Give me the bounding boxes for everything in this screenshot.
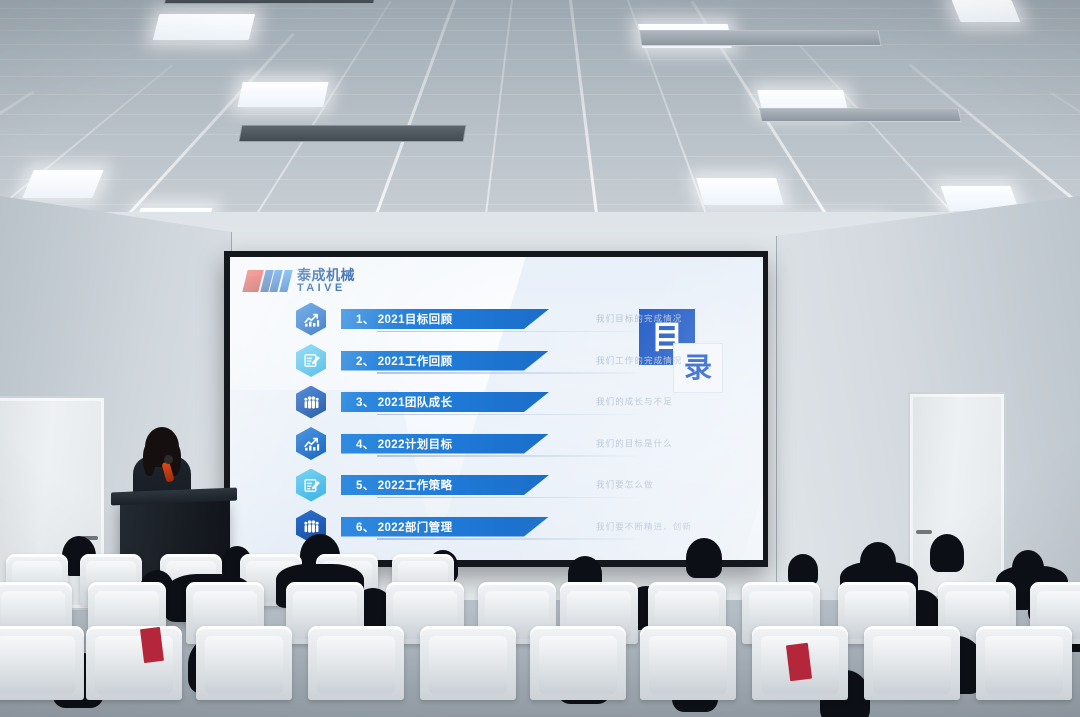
agenda-item-banner[interactable]: 6、2022部门管理 xyxy=(341,517,549,537)
ceiling-diffuser xyxy=(759,108,962,122)
people-group-icon xyxy=(296,386,326,419)
ceiling-light-panel xyxy=(153,14,255,40)
ceiling-light-panel xyxy=(952,0,1021,22)
audience-seat xyxy=(0,626,84,700)
ceiling-tile-line xyxy=(0,156,1080,157)
microphone-head-icon xyxy=(164,455,173,464)
agenda-item-banner[interactable]: 5、2022工作策略 xyxy=(341,475,549,495)
ceiling-tile-line xyxy=(0,134,1080,135)
agenda-item-number: 2、 xyxy=(356,353,375,369)
agenda-item-title: 2022工作策略 xyxy=(378,477,453,493)
agenda-item-title: 2021工作回顾 xyxy=(378,353,453,369)
clipboard-pencil-icon xyxy=(296,469,326,502)
company-logo: 泰成机械 TAIVE xyxy=(245,268,355,294)
agenda-item-banner[interactable]: 3、2021团队成长 xyxy=(341,392,549,412)
audience-member xyxy=(686,538,722,578)
audience-seat xyxy=(530,626,626,700)
ceiling-light-panel xyxy=(696,178,784,205)
agenda-item-1[interactable]: 1、2021目标回顾我们目标的完成情况 xyxy=(296,301,726,337)
handout-booklet xyxy=(786,643,812,681)
chart-growth-icon xyxy=(296,427,326,460)
ceiling-air-vent xyxy=(239,125,467,142)
ceiling-tile-line xyxy=(0,76,1080,77)
audience-seat xyxy=(308,626,404,700)
presentation-slide: 泰成机械 TAIVE 目 录 1、2021目标回顾我们目标的完成情况2、2021… xyxy=(230,257,763,560)
audience-seating xyxy=(0,540,1080,717)
agenda-item-underline xyxy=(377,331,635,332)
ceiling-diffuser xyxy=(639,30,882,46)
agenda-item-3[interactable]: 3、2021团队成长我们的成长与不足 xyxy=(296,384,726,420)
agenda-list: 1、2021目标回顾我们目标的完成情况2、2021工作回顾我们工作的完成情况3、… xyxy=(296,301,726,550)
door-handle-icon[interactable] xyxy=(916,530,932,534)
agenda-item-subtitle: 我们目标的完成情况 xyxy=(596,312,682,324)
audience-seat xyxy=(640,626,736,700)
agenda-item-title: 2022计划目标 xyxy=(378,436,453,452)
agenda-item-title: 2022部门管理 xyxy=(378,519,453,535)
agenda-item-subtitle: 我们工作的完成情况 xyxy=(596,354,682,366)
agenda-item-underline xyxy=(377,455,635,456)
agenda-item-underline xyxy=(377,414,635,415)
chart-growth-icon xyxy=(296,303,326,336)
ceiling-tile-line xyxy=(0,44,1080,45)
ceiling-light-panel xyxy=(22,170,103,198)
audience-seat xyxy=(976,626,1072,700)
agenda-item-number: 6、 xyxy=(356,519,375,535)
presenter-hair-left xyxy=(143,444,155,476)
logo-mark-icon xyxy=(242,270,295,292)
agenda-item-subtitle: 我们的目标是什么 xyxy=(596,437,673,449)
logo-english-name: TAIVE xyxy=(297,283,355,294)
agenda-item-title: 2021团队成长 xyxy=(378,394,453,410)
agenda-item-banner[interactable]: 4、2022计划目标 xyxy=(341,434,549,454)
audience-member xyxy=(930,534,964,572)
clipboard-pencil-icon xyxy=(296,344,326,377)
conference-room-scene: 泰成机械 TAIVE 目 录 1、2021目标回顾我们目标的完成情况2、2021… xyxy=(0,0,1080,717)
agenda-item-number: 3、 xyxy=(356,394,375,410)
ceiling-tile-line xyxy=(0,8,1080,9)
agenda-item-underline xyxy=(377,372,635,373)
ceiling-tile-line xyxy=(0,94,1080,95)
agenda-item-2[interactable]: 2、2021工作回顾我们工作的完成情况 xyxy=(296,343,726,379)
agenda-item-banner[interactable]: 1、2021目标回顾 xyxy=(341,309,549,329)
logo-chinese-name: 泰成机械 xyxy=(297,268,355,282)
ceiling-tile-line xyxy=(0,204,1080,205)
agenda-item-number: 1、 xyxy=(356,311,375,327)
agenda-item-subtitle: 我们要不断精进、创新 xyxy=(596,520,692,532)
agenda-item-subtitle: 我们要怎么做 xyxy=(596,478,654,490)
agenda-item-subtitle: 我们的成长与不足 xyxy=(596,395,673,407)
agenda-item-number: 4、 xyxy=(356,436,375,452)
audience-seat xyxy=(196,626,292,700)
agenda-item-number: 5、 xyxy=(356,477,375,493)
agenda-item-underline xyxy=(377,497,635,498)
ceiling-air-vent xyxy=(164,0,378,4)
agenda-item-5[interactable]: 5、2022工作策略我们要怎么做 xyxy=(296,467,726,503)
audience-seat xyxy=(86,626,182,700)
handout-booklet xyxy=(140,627,164,663)
ceiling-light-panel xyxy=(237,82,328,107)
presentation-screen-bezel: 泰成机械 TAIVE 目 录 1、2021目标回顾我们目标的完成情况2、2021… xyxy=(224,251,768,567)
audience-seat xyxy=(864,626,960,700)
agenda-item-banner[interactable]: 2、2021工作回顾 xyxy=(341,351,549,371)
ceiling-tile-line xyxy=(0,59,1080,60)
agenda-item-4[interactable]: 4、2022计划目标我们的目标是什么 xyxy=(296,426,726,462)
audience-seat xyxy=(420,626,516,700)
agenda-item-title: 2021目标回顾 xyxy=(378,311,453,327)
